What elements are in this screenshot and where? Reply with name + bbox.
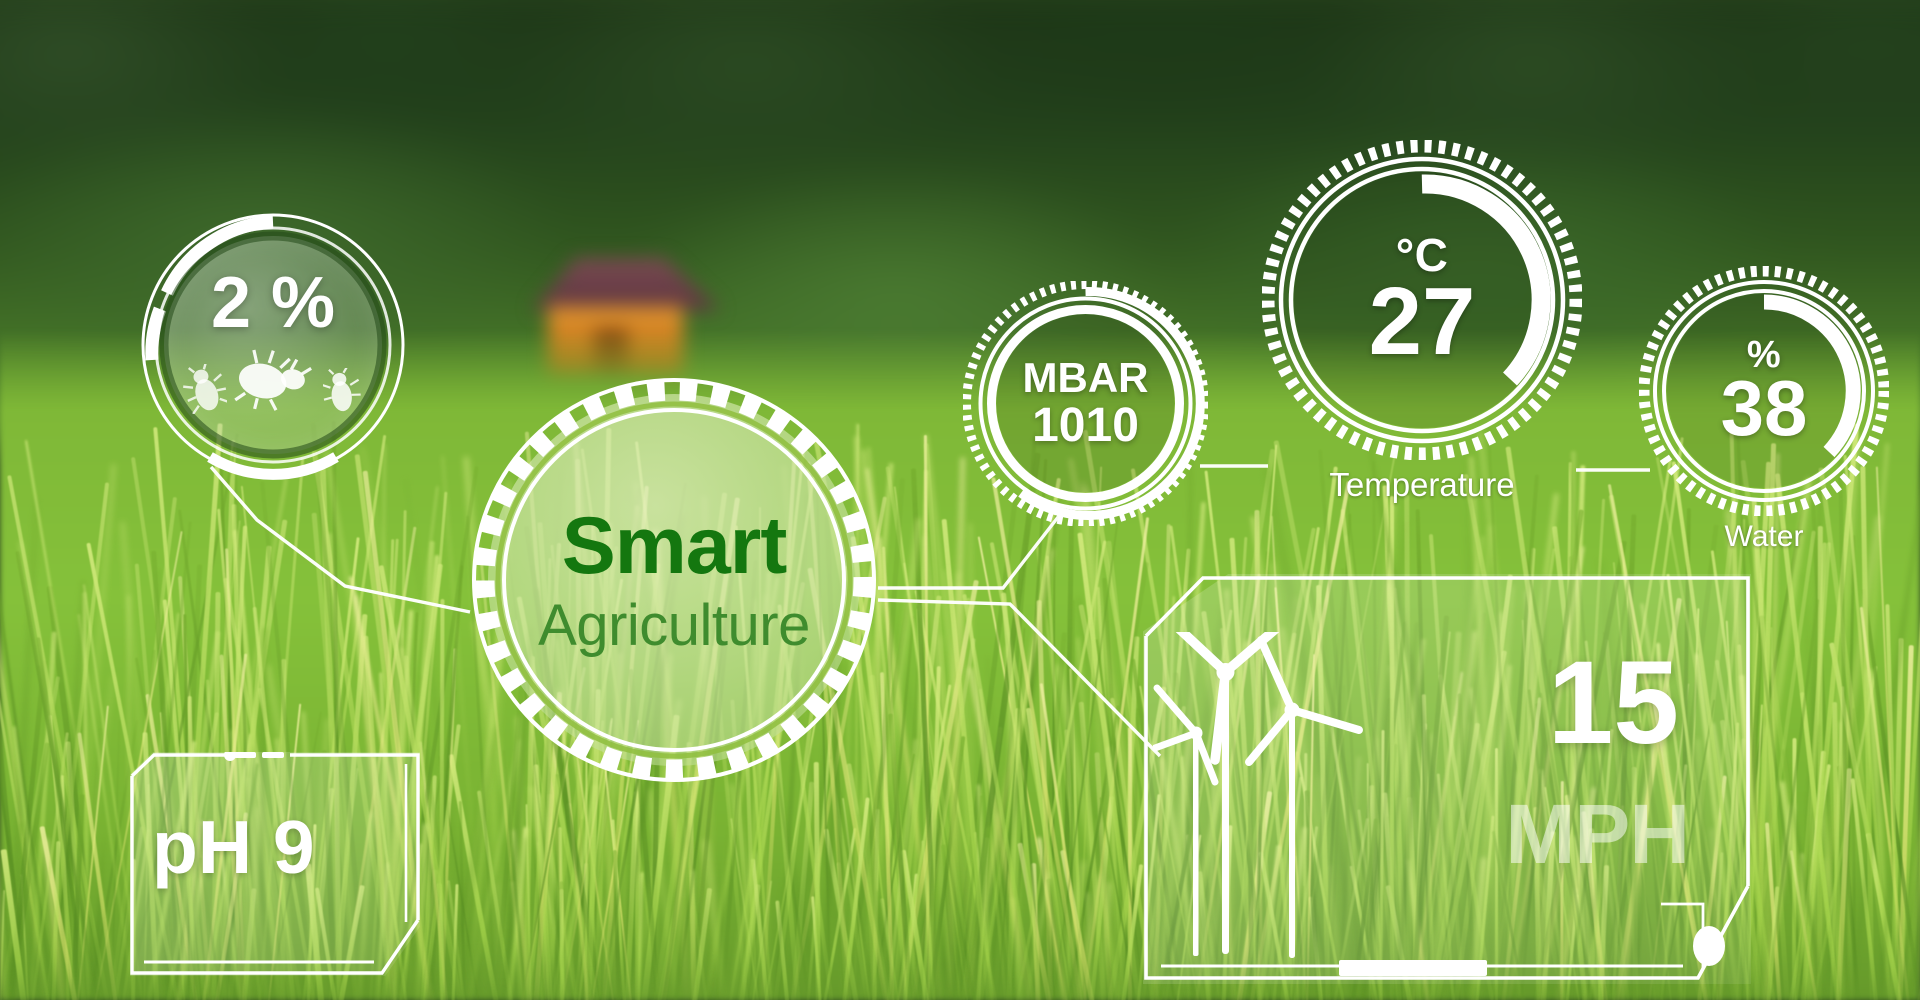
gauge-temperature[interactable]: °C 27 Temperature	[1262, 140, 1582, 460]
hub-title: Smart	[562, 506, 787, 587]
hub-subtitle: Agriculture	[538, 597, 810, 655]
pressure-unit: MBAR	[1023, 359, 1149, 398]
wind-value: 15	[1548, 644, 1679, 762]
pest-insect-icon-small	[183, 364, 227, 414]
wind-unit: MPH	[1505, 792, 1689, 876]
ph-value: pH 9	[152, 804, 315, 890]
hub-smart-agriculture[interactable]: Smart Agriculture	[466, 372, 882, 788]
temperature-readout: °C 27	[1262, 140, 1582, 460]
panel-ph[interactable]: pH 9	[130, 752, 420, 976]
gauge-pressure[interactable]: MBAR 1010	[963, 281, 1208, 526]
pest-insect-icon	[138, 348, 408, 414]
pest-insect-icon-large	[231, 348, 319, 414]
temperature-value: 27	[1369, 278, 1476, 366]
pest-insect-icon-edge	[323, 368, 363, 414]
pressure-value: 1010	[1032, 404, 1139, 448]
hud-overlay: 2 %	[0, 0, 1920, 1000]
water-readout: % 38	[1639, 266, 1889, 516]
water-value: 38	[1721, 373, 1808, 445]
hub-text: Smart Agriculture	[466, 372, 882, 788]
pressure-readout: MBAR 1010	[963, 281, 1208, 526]
water-label: Water	[1639, 520, 1889, 554]
gauge-water[interactable]: % 38 Water	[1639, 266, 1889, 516]
gauge-pest[interactable]: 2 %	[138, 210, 408, 480]
wind-turbine-icon	[1153, 632, 1493, 962]
pest-value: 2 %	[138, 262, 408, 344]
pest-gauge-ring	[138, 210, 408, 480]
panel-wind[interactable]: 15 MPH	[1143, 574, 1751, 984]
temperature-label: Temperature	[1262, 466, 1582, 504]
